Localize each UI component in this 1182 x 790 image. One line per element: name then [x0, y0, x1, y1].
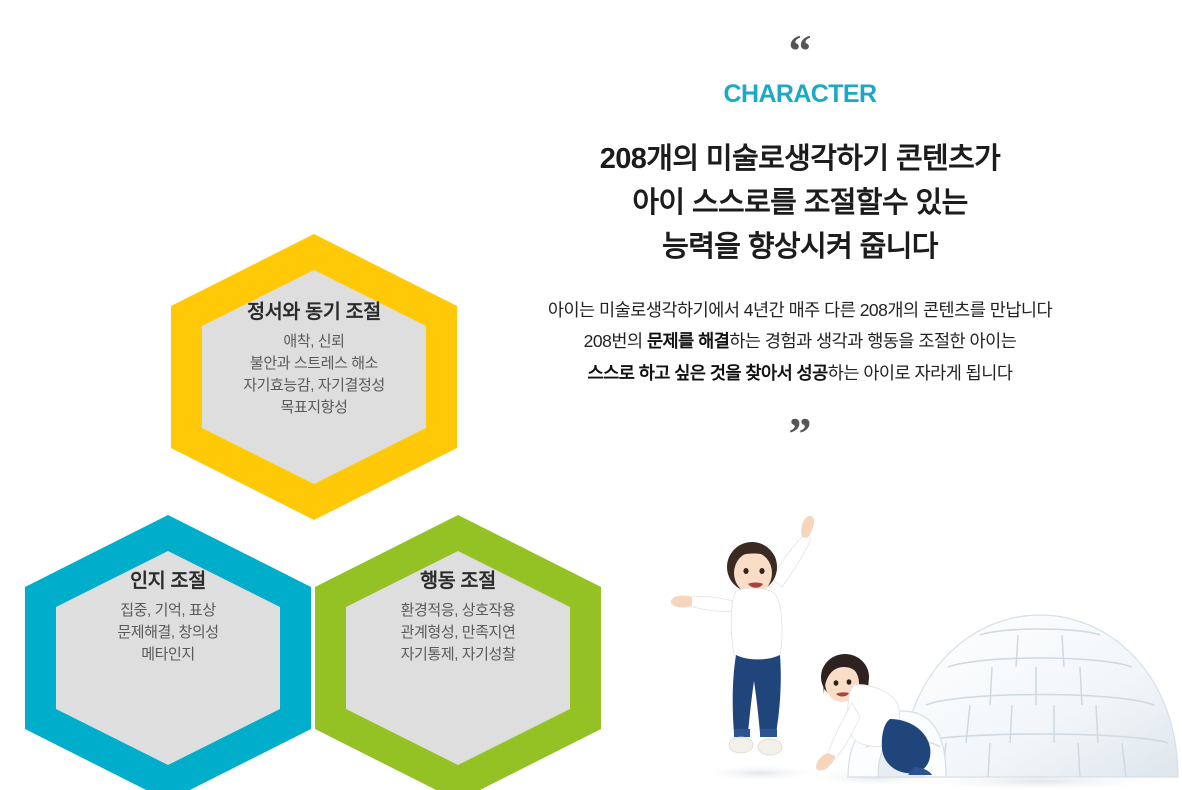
quote-open-icon: “	[470, 28, 1130, 68]
photo-illustration	[640, 505, 1182, 790]
headline-line: 능력을 향상시켜 줍니다	[470, 225, 1130, 269]
children-igloo-photo	[640, 505, 1182, 790]
jumping-child-shirt	[731, 588, 782, 659]
body-paragraph: 아이는 미술로생각하기에서 4년간 매주 다른 208개의 콘텐츠를 만납니다 …	[470, 295, 1130, 388]
right-content-column: “ CHARACTER 208개의 미술로생각하기 콘텐츠가 아이 스스로를 조…	[470, 0, 1130, 457]
headline: 208개의 미술로생각하기 콘텐츠가 아이 스스로를 조절할수 있는 능력을 향…	[470, 137, 1130, 269]
body-line: 아이는 미술로생각하기에서 4년간 매주 다른 208개의 콘텐츠를 만납니다	[470, 295, 1130, 326]
hexagon-behavior-regulation[interactable]: 행동 조절 환경적응, 상호작용 관계형성, 만족지연 자기통제, 자기성찰	[312, 513, 604, 790]
crawling-child-hand	[816, 753, 835, 771]
hexagon-behavior-shape	[312, 513, 604, 790]
jumping-child-shoe	[729, 737, 753, 753]
hexagon-emotion-shape	[168, 232, 460, 522]
headline-line: 아이 스스로를 조절할수 있는	[470, 181, 1130, 225]
shadow-jumping-child	[698, 764, 822, 782]
body-line: 208번의 문제를 해결하는 경험과 생각과 행동을 조절한 아이는	[470, 326, 1130, 357]
headline-line: 208개의 미술로생각하기 콘텐츠가	[470, 137, 1130, 181]
section-eyebrow-title: CHARACTER	[470, 80, 1130, 109]
jumping-child-shoe	[758, 739, 782, 755]
hexagon-cognitive-regulation[interactable]: 인지 조절 집중, 기억, 표상 문제해결, 창의성 메타인지	[22, 513, 314, 790]
body-line: 스스로 하고 싶은 것을 찾아서 성공하는 아이로 자라게 됩니다	[470, 358, 1130, 389]
jumping-child	[671, 516, 814, 755]
quote-close-icon: ”	[470, 411, 1130, 457]
jumping-child-face	[734, 552, 772, 594]
hexagon-cognition-shape	[22, 513, 314, 790]
jumping-child-jeans	[733, 655, 781, 733]
hexagon-emotion-regulation[interactable]: 정서와 동기 조절 애착, 신뢰 불안과 스트레스 해소 자기효능감, 자기결정…	[168, 232, 460, 522]
page-root: 정서와 동기 조절 애착, 신뢰 불안과 스트레스 해소 자기효능감, 자기결정…	[0, 0, 1182, 790]
